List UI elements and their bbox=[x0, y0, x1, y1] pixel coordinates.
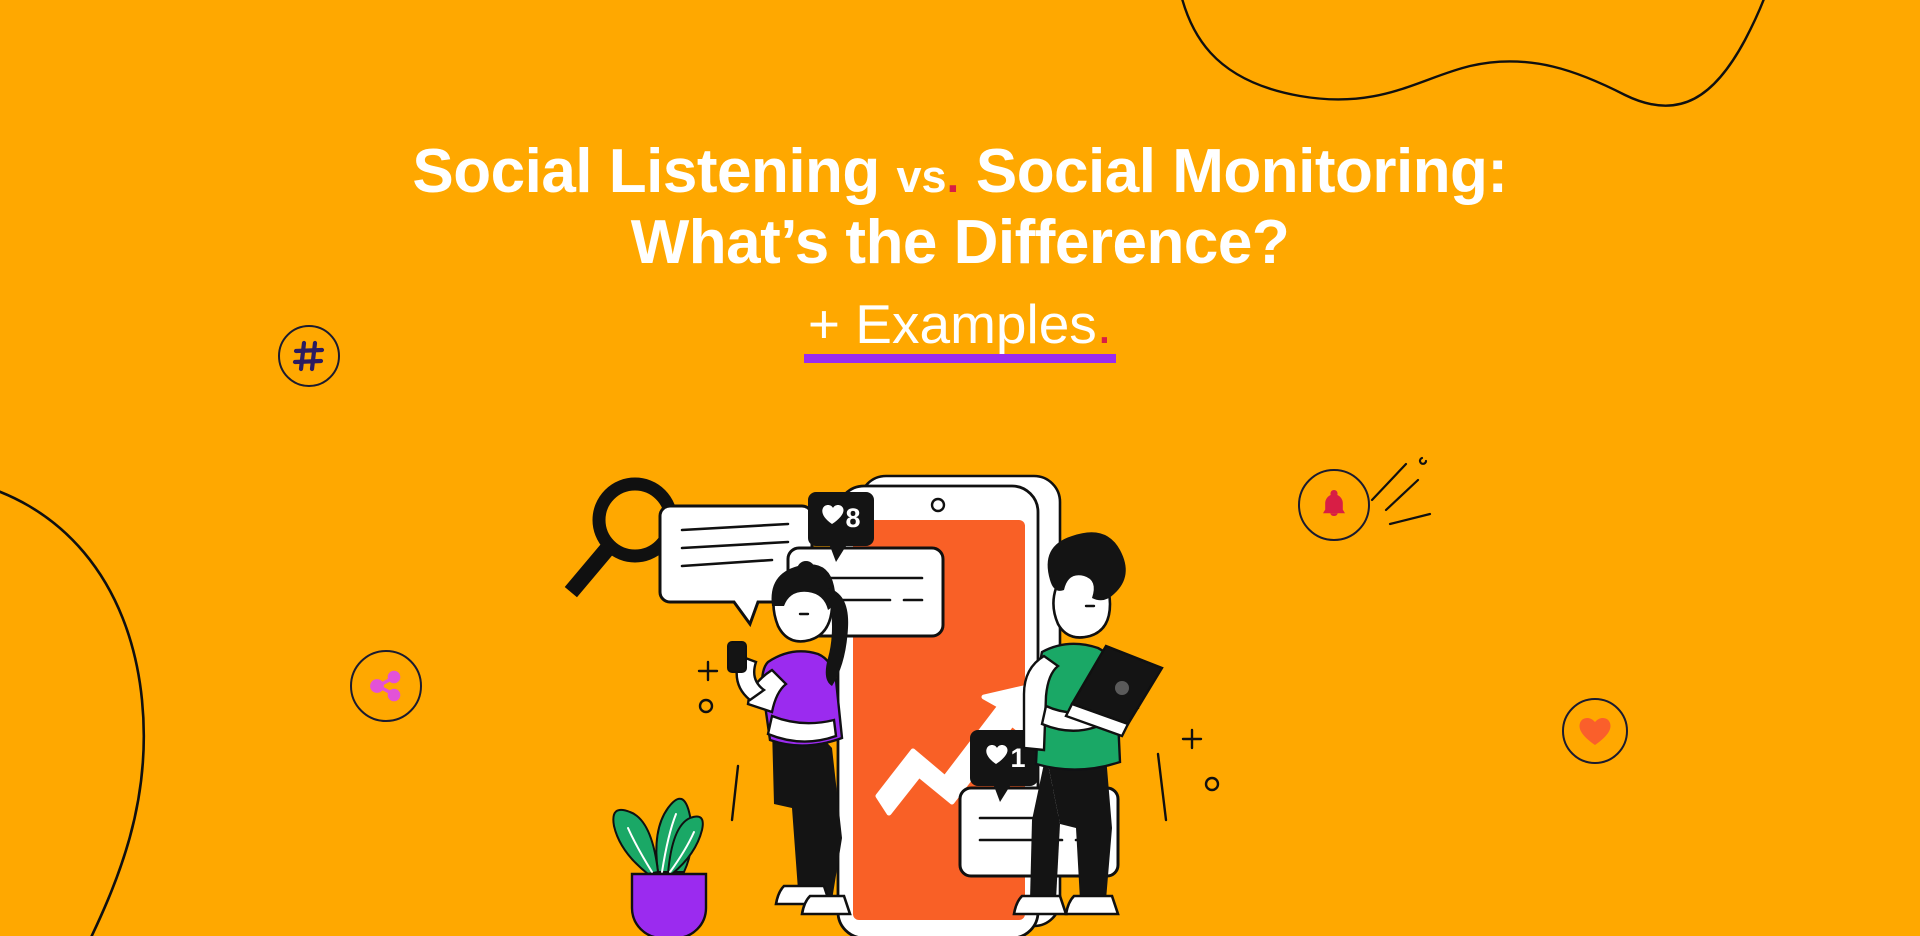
person-right-shoe-1 bbox=[1014, 896, 1066, 914]
share-icon bbox=[350, 650, 422, 722]
bell-glyph bbox=[1314, 485, 1354, 525]
person-left-held-phone bbox=[728, 642, 746, 672]
top-curve-decor bbox=[1175, 0, 1778, 106]
person-right-shoe-2 bbox=[1066, 896, 1118, 914]
headline-vs-dot: . bbox=[947, 151, 960, 202]
hero-banner: Social Listening vs. Social Monitoring: … bbox=[0, 0, 1920, 936]
plant bbox=[613, 799, 706, 936]
phone-camera-dot bbox=[932, 499, 944, 511]
left-curve-decor bbox=[0, 480, 144, 936]
headline-examples-dot: . bbox=[1097, 293, 1112, 355]
headline-line-1-part-2: Social Monitoring: bbox=[959, 137, 1507, 206]
plant-pot bbox=[632, 874, 706, 936]
hashtag-glyph bbox=[291, 338, 327, 374]
magnifier-icon bbox=[576, 484, 671, 586]
headline-line-1-part-1: Social Listening bbox=[412, 137, 896, 206]
social-illustration: 8 1 bbox=[560, 448, 1260, 936]
headline-line-1: Social Listening vs. Social Monitoring: bbox=[0, 140, 1920, 203]
person-left-hair-bun bbox=[797, 561, 815, 579]
badge-like-count-top: 8 bbox=[845, 503, 860, 533]
laptop-camera-dot bbox=[1115, 681, 1129, 695]
headline-examples-text: + Examples bbox=[808, 293, 1097, 355]
sparkle-decor-left bbox=[699, 662, 738, 820]
headline-examples-group: + Examples. bbox=[804, 296, 1116, 362]
hashtag-icon bbox=[278, 325, 340, 387]
heart-glyph bbox=[1576, 713, 1614, 749]
person-left-shoe-2 bbox=[802, 896, 850, 914]
heart-icon bbox=[1562, 698, 1628, 764]
bell-ring-lines bbox=[1360, 448, 1450, 528]
headline-underline bbox=[804, 354, 1116, 363]
share-glyph bbox=[366, 666, 406, 706]
page-title: Social Listening vs. Social Monitoring: … bbox=[0, 140, 1920, 363]
sparkle-decor-right bbox=[1158, 730, 1218, 820]
headline-vs: vs bbox=[897, 151, 947, 202]
headline-line-2: What’s the Difference? bbox=[0, 211, 1920, 274]
